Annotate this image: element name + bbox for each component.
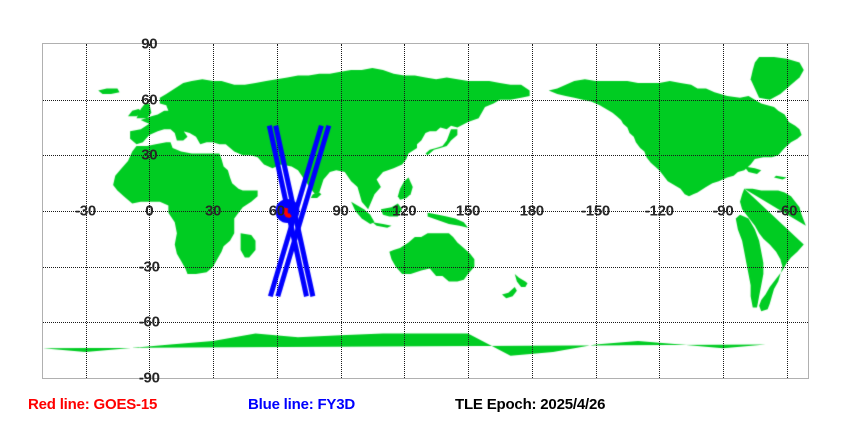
lat-tick-neg90: -90 (139, 370, 160, 387)
lon-tick-90: 90 (332, 203, 348, 220)
lat-tick-neg60: -60 (139, 314, 160, 331)
lon-tick-60: 60 (269, 203, 285, 220)
lon-tick-neg30: -30 (75, 203, 96, 220)
legend-blue-line-fy3d: Blue line: FY3D (248, 396, 355, 413)
lon-tick-neg60: -60 (776, 203, 797, 220)
lon-tick-180: 180 (520, 203, 544, 220)
lon-tick-neg90: -90 (713, 203, 734, 220)
lon-tick-150: 150 (456, 203, 480, 220)
legend-tle-epoch: TLE Epoch: 2025/4/26 (455, 396, 605, 413)
lon-tick-30: 30 (205, 203, 221, 220)
lat-tick-0: 0 (145, 203, 153, 220)
lat-tick-60: 60 (141, 91, 157, 108)
lon-tick-neg120: -120 (645, 203, 674, 220)
lon-tick-neg150: -150 (581, 203, 610, 220)
legend: Red line: GOES-15 Blue line: FY3D TLE Ep… (0, 396, 850, 420)
lat-tick-30: 30 (141, 147, 157, 164)
lat-tick-90: 90 (141, 36, 157, 53)
legend-red-line-goes15: Red line: GOES-15 (28, 396, 157, 413)
lon-tick-120: 120 (392, 203, 416, 220)
lat-tick-neg30: -30 (139, 258, 160, 275)
